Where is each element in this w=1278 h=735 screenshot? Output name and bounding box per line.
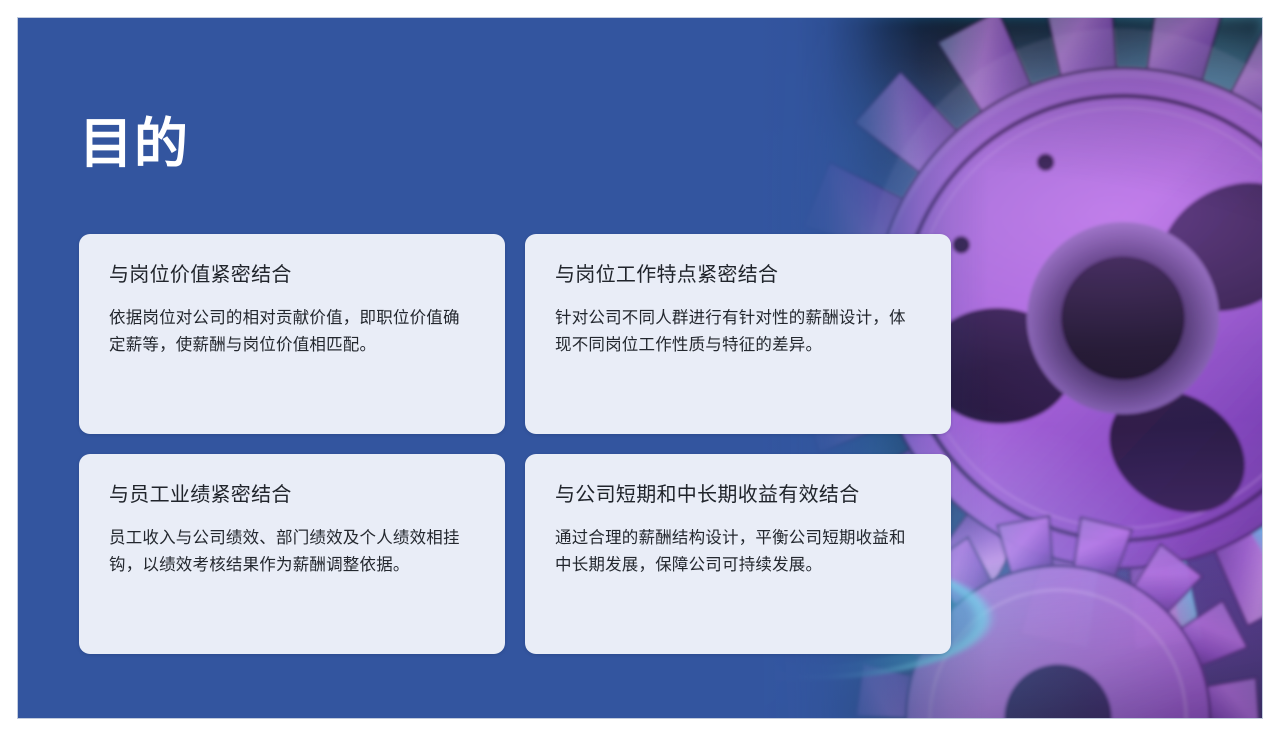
card-employee-performance[interactable]: 与员工业绩紧密结合 员工收入与公司绩效、部门绩效及个人绩效相挂钩，以绩效考核结果… (79, 454, 505, 654)
card-body: 依据岗位对公司的相对贡献价值，即职位价值确定薪等，使薪酬与岗位价值相匹配。 (109, 305, 475, 359)
card-title: 与公司短期和中长期收益有效结合 (555, 481, 921, 509)
card-job-characteristics[interactable]: 与岗位工作特点紧密结合 针对公司不同人群进行有针对性的薪酬设计，体现不同岗位工作… (525, 234, 951, 434)
card-short-long-term-benefit[interactable]: 与公司短期和中长期收益有效结合 通过合理的薪酬结构设计，平衡公司短期收益和中长期… (525, 454, 951, 654)
cards-grid: 与岗位价值紧密结合 依据岗位对公司的相对贡献价值，即职位价值确定薪等，使薪酬与岗… (79, 234, 951, 654)
card-title: 与岗位价值紧密结合 (109, 261, 475, 289)
card-title: 与员工业绩紧密结合 (109, 481, 475, 509)
card-body: 员工收入与公司绩效、部门绩效及个人绩效相挂钩，以绩效考核结果作为薪酬调整依据。 (109, 525, 475, 579)
page-title: 目的 (79, 111, 189, 177)
card-body: 针对公司不同人群进行有针对性的薪酬设计，体现不同岗位工作性质与特征的差异。 (555, 305, 921, 359)
presentation-slide: 目的 与岗位价值紧密结合 依据岗位对公司的相对贡献价值，即职位价值确定薪等，使薪… (18, 18, 1262, 718)
card-job-value[interactable]: 与岗位价值紧密结合 依据岗位对公司的相对贡献价值，即职位价值确定薪等，使薪酬与岗… (79, 234, 505, 434)
card-body: 通过合理的薪酬结构设计，平衡公司短期收益和中长期发展，保障公司可持续发展。 (555, 525, 921, 579)
card-title: 与岗位工作特点紧密结合 (555, 261, 921, 289)
slide-content: 目的 与岗位价值紧密结合 依据岗位对公司的相对贡献价值，即职位价值确定薪等，使薪… (18, 18, 1262, 718)
slide-canvas: 目的 与岗位价值紧密结合 依据岗位对公司的相对贡献价值，即职位价值确定薪等，使薪… (0, 0, 1278, 735)
